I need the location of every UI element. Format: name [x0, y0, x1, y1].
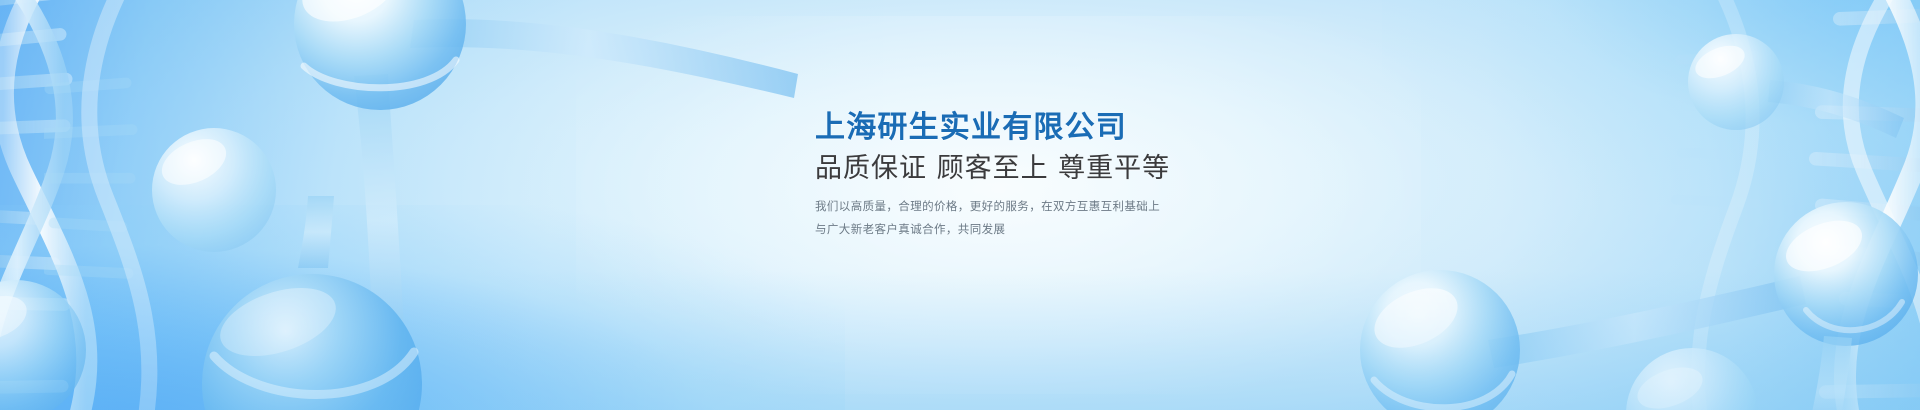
company-description-line-1: 我们以高质量，合理的价格，更好的服务，在双方互惠互利基础上 — [815, 195, 1275, 219]
company-title: 上海研生实业有限公司 — [815, 108, 1275, 148]
banner-bottom-vignette — [0, 271, 1920, 410]
banner-text-block: 上海研生实业有限公司 品质保证 顾客至上 尊重平等 我们以高质量，合理的价格，更… — [815, 108, 1275, 242]
company-hero-banner: 上海研生实业有限公司 品质保证 顾客至上 尊重平等 我们以高质量，合理的价格，更… — [0, 0, 1920, 410]
company-description-line-2: 与广大新老客户真诚合作，共同发展 — [815, 218, 1275, 242]
company-slogan: 品质保证 顾客至上 尊重平等 — [815, 151, 1275, 186]
